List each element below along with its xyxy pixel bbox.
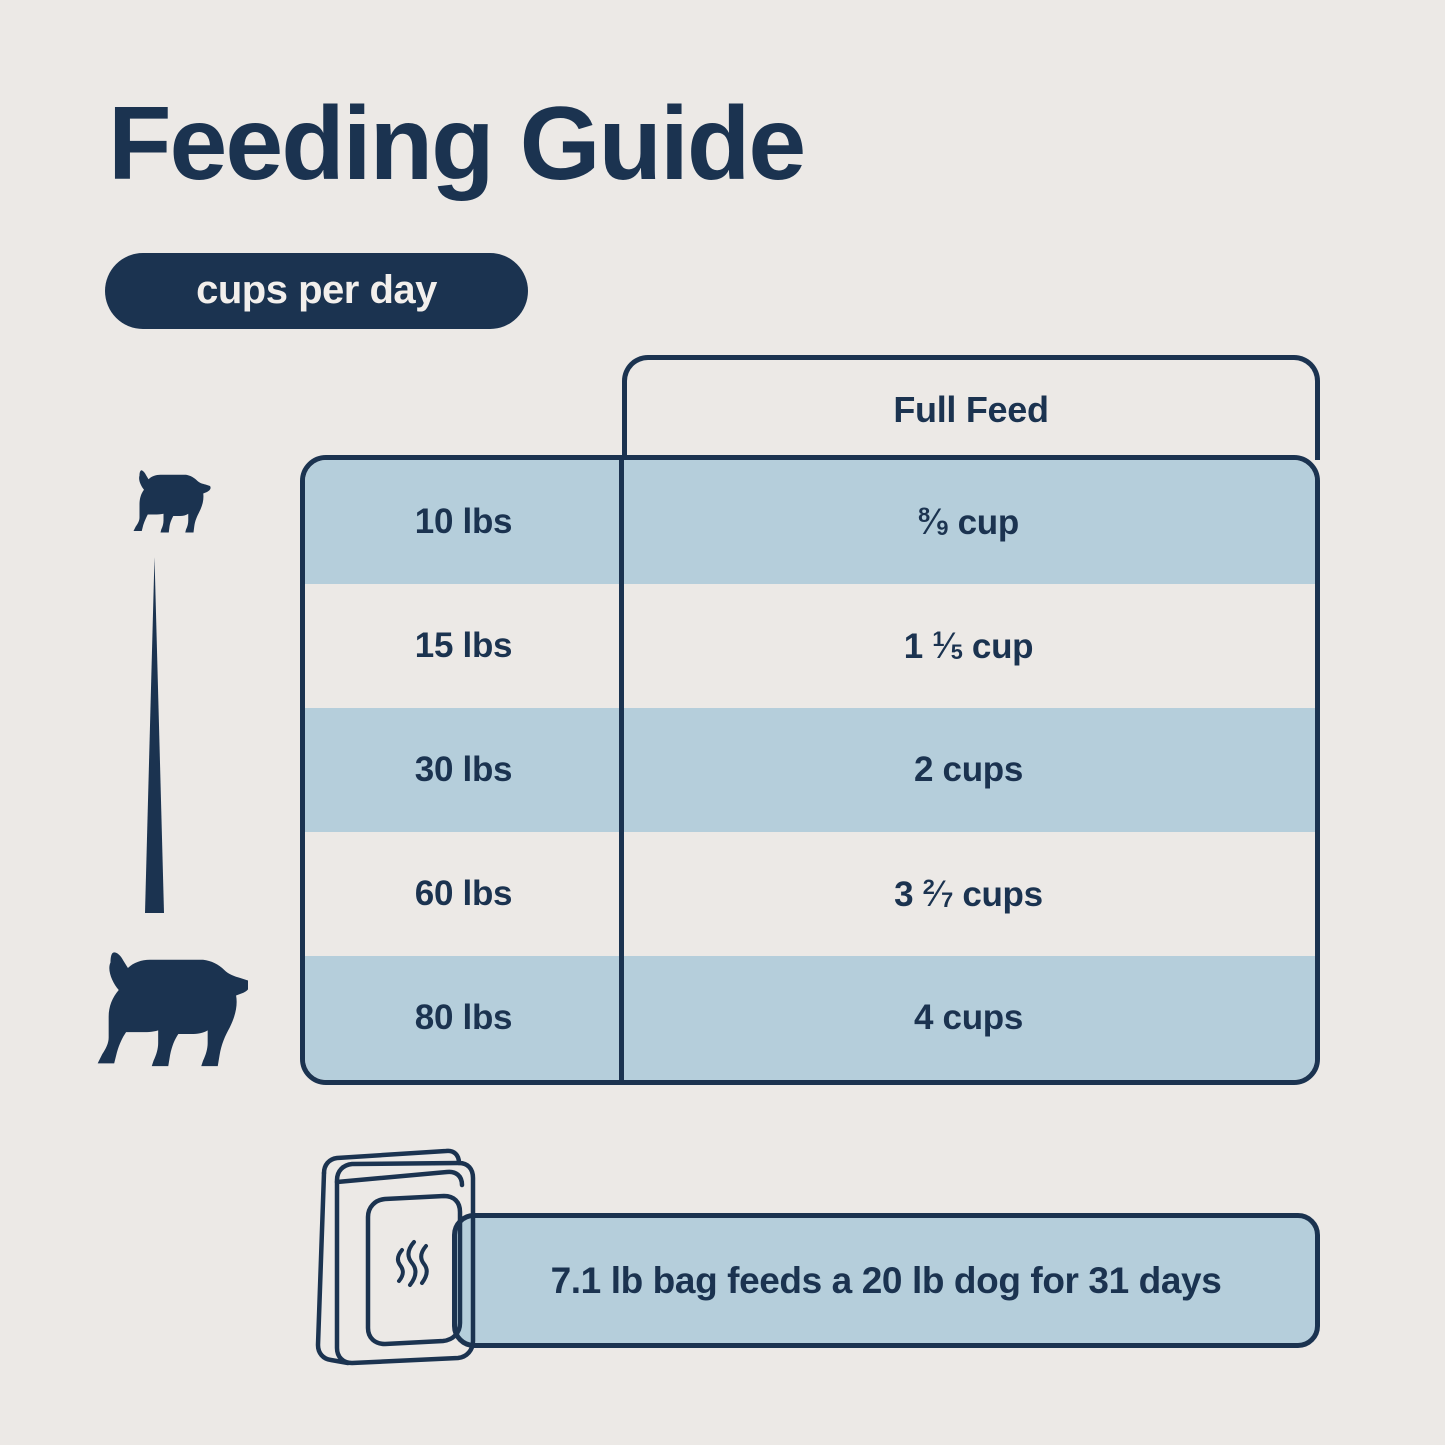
amount-whole: 1 [904,627,923,666]
fraction-numerator: 8 [918,502,930,527]
badge-label: cups per day [196,270,437,313]
cell-amount: 2 cups [622,750,1315,790]
table-row: 10 lbs 8⁄9 cup [305,460,1315,584]
fraction-denominator: 5 [951,639,963,664]
dog-silhouette-large-icon [83,947,248,1077]
table-row: 30 lbs 2 cups [305,708,1315,832]
bag-duration-label: 7.1 lb bag feeds a 20 lb dog for 31 days [551,1260,1222,1302]
bag-duration-bar: 7.1 lb bag feeds a 20 lb dog for 31 days [452,1213,1320,1348]
table-header-label: Full Feed [893,389,1048,431]
cell-weight: 10 lbs [305,502,622,542]
dog-silhouette-small-icon [123,465,213,537]
fraction-denominator: 7 [941,887,953,912]
amount-unit: cups [943,998,1024,1037]
amount-whole: 4 [914,998,933,1037]
cups-per-day-badge: cups per day [105,253,528,329]
amount-whole: 3 [894,875,913,914]
fraction-numerator: 2 [923,874,935,899]
feeding-guide-infographic: Feeding Guide cups per day Full Feed 10 … [0,0,1445,1445]
cell-amount: 3 2⁄7 cups [622,873,1315,915]
table-row: 80 lbs 4 cups [305,956,1315,1080]
cell-amount: 1 1⁄5 cup [622,625,1315,667]
table-column-divider [619,455,624,1085]
fraction-numerator: 1 [932,626,944,651]
cell-amount: 8⁄9 cup [622,501,1315,543]
amount-unit: cup [972,627,1033,666]
amount-whole: 2 [914,750,933,789]
dog-food-bag-icon [296,1145,486,1370]
feeding-table: Full Feed 10 lbs 8⁄9 cup 15 lbs 1 1⁄5 cu… [300,355,1320,1085]
dog-size-scale [78,465,258,1095]
table-row: 60 lbs 3 2⁄7 cups [305,832,1315,956]
cell-weight: 60 lbs [305,874,622,914]
page-title: Feeding Guide [108,92,804,196]
cell-weight: 15 lbs [305,626,622,666]
cell-amount: 4 cups [622,998,1315,1038]
table-header-full-feed: Full Feed [622,355,1320,460]
table-row: 15 lbs 1 1⁄5 cup [305,584,1315,708]
amount-unit: cup [958,503,1019,542]
amount-unit: cups [943,750,1024,789]
fraction-denominator: 9 [936,515,948,540]
amount-unit: cups [962,875,1043,914]
cell-weight: 30 lbs [305,750,622,790]
size-scale-wedge-icon [133,557,177,917]
table-body: 10 lbs 8⁄9 cup 15 lbs 1 1⁄5 cup 30 lbs 2 [300,455,1320,1085]
cell-weight: 80 lbs [305,998,622,1038]
